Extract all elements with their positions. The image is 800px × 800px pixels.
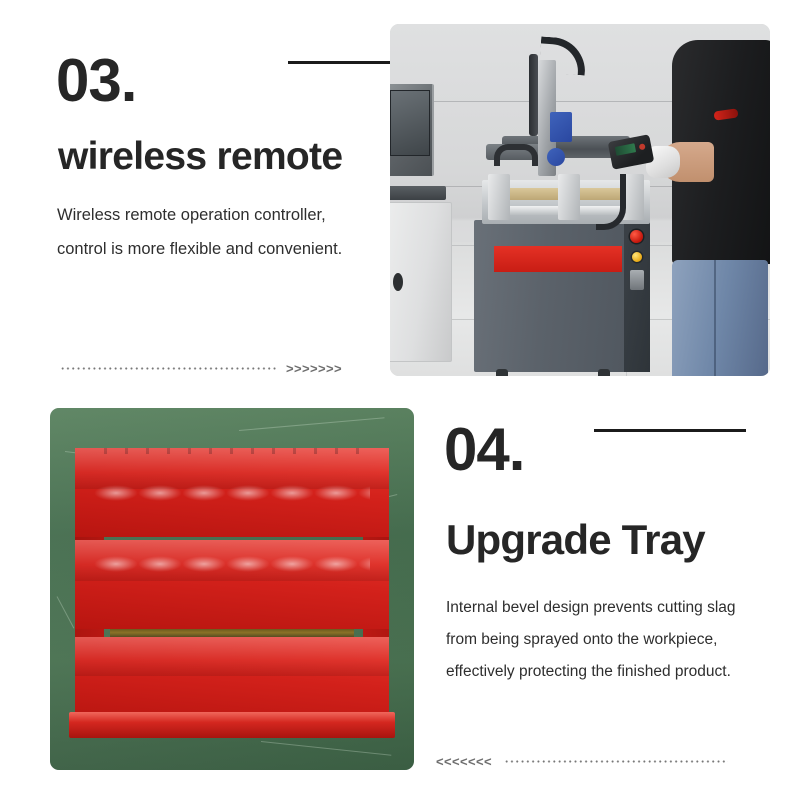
section-decoration-04: <<<<<<<	[436, 755, 766, 768]
chevron-left-icon: <<<<<<<	[436, 755, 492, 768]
product-feature-page: 03. wireless remote Wireless remote oper…	[0, 0, 800, 800]
caster-wheel	[496, 369, 508, 376]
keyboard	[390, 186, 446, 200]
shirt-logo	[713, 108, 738, 120]
tray-bevel-face	[75, 637, 388, 675]
tray-compartment	[75, 637, 388, 721]
section-body-03: Wireless remote operation controller, co…	[57, 199, 387, 267]
section-decoration-03: >>>>>>>	[60, 362, 390, 375]
cnc-machine-with-operator-photo	[390, 24, 770, 376]
machine-cabinet	[474, 220, 650, 372]
section-body-line: from being sprayed onto the workpiece,	[446, 624, 764, 656]
control-monitor	[390, 84, 434, 176]
feature-section-03: 03. wireless remote Wireless remote oper…	[0, 0, 800, 400]
cutting-head	[550, 112, 572, 142]
section-title-03: wireless remote	[58, 137, 342, 178]
remote-button	[639, 143, 646, 150]
section-body-line: Wireless remote operation controller,	[57, 199, 387, 233]
tray-bevel-face	[75, 448, 388, 489]
cabinet-control-panel	[624, 220, 650, 372]
clamp-block	[488, 174, 510, 220]
chevron-right-icon: >>>>>>>	[286, 362, 342, 375]
feature-text-block-03: 03. wireless remote Wireless remote oper…	[56, 24, 386, 384]
remote-display	[615, 143, 636, 156]
section-title-04: Upgrade Tray	[446, 518, 705, 562]
feature-text-block-04: 04. Upgrade Tray Internal bevel design p…	[444, 410, 764, 790]
tray-compartment	[75, 540, 388, 629]
table-slat	[508, 188, 560, 200]
tray-weld-dimples	[94, 485, 369, 501]
key-switch	[630, 270, 644, 290]
clamp-block	[558, 174, 580, 220]
operator-jeans	[672, 260, 768, 376]
section-body-line: control is more flexible and convenient.	[57, 233, 387, 267]
cable-hose	[529, 54, 538, 136]
indicator-lamp	[632, 252, 642, 262]
tray-weld-dimples	[94, 556, 369, 572]
monitor-screen	[390, 90, 430, 156]
red-slag-tray-photo	[50, 408, 414, 770]
section-body-line: Internal bevel design prevents cutting s…	[446, 592, 764, 624]
side-cabinet	[390, 202, 452, 362]
caster-wheel	[598, 369, 610, 376]
gantry-handle	[494, 144, 538, 166]
dotted-rule-icon	[60, 367, 276, 370]
cabinet-red-stripe	[494, 246, 622, 272]
section-body-04: Internal bevel design prevents cutting s…	[446, 592, 764, 689]
cutting-head-nozzle	[547, 148, 565, 166]
emergency-stop-button	[630, 230, 643, 243]
feature-section-04: 04. Upgrade Tray Internal bevel design p…	[0, 400, 800, 800]
slag-tray	[75, 448, 388, 727]
dotted-rule-icon	[504, 760, 728, 763]
tray-compartment	[75, 448, 388, 537]
section-number-03: 03.	[56, 51, 136, 111]
section-number-04: 04.	[444, 420, 524, 480]
tray-front-lip	[69, 712, 395, 738]
section-rule-04	[594, 429, 746, 432]
section-body-line: effectively protecting the finished prod…	[446, 656, 764, 688]
